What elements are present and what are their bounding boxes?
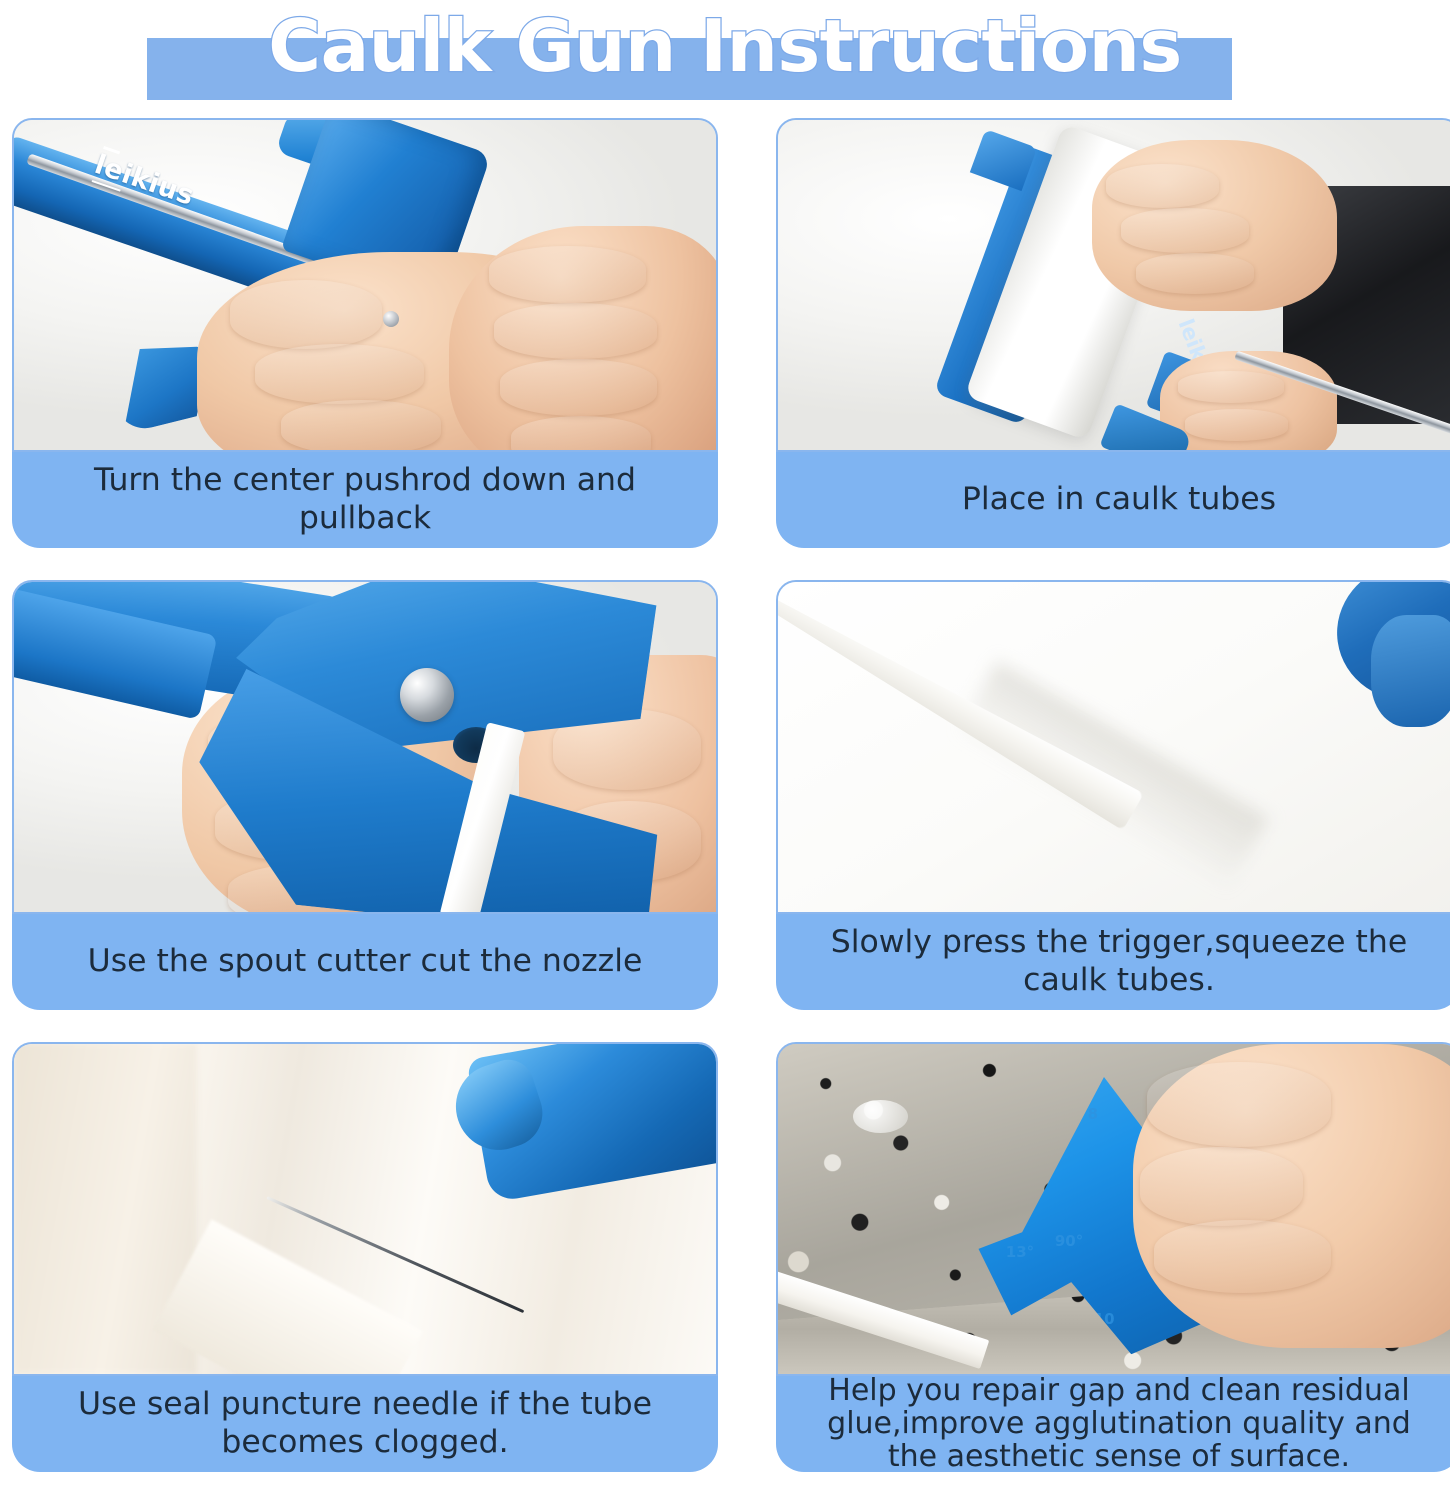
hand-pulling-rod bbox=[449, 226, 718, 452]
step-card-1: leikius Turn the center pushrod down and… bbox=[12, 118, 718, 548]
hand-holding-tube bbox=[1092, 140, 1338, 312]
step-caption-5: Use seal puncture needle if the tube bec… bbox=[12, 1376, 718, 1472]
step-caption-4: Slowly press the trigger,squeeze the cau… bbox=[776, 914, 1450, 1010]
finger bbox=[500, 359, 657, 416]
step-photo-1: leikius bbox=[12, 118, 718, 452]
finger bbox=[1147, 1062, 1331, 1147]
step-card-2: leikius Place in caulk tubes bbox=[776, 118, 1450, 548]
step-caption-2: Place in caulk tubes bbox=[776, 452, 1450, 548]
gun-head-tip-inner bbox=[1371, 615, 1450, 727]
step-photo-4 bbox=[776, 580, 1450, 914]
finger bbox=[1140, 1147, 1303, 1226]
finger bbox=[1136, 253, 1254, 294]
residual-glue bbox=[853, 1100, 908, 1133]
finger bbox=[489, 246, 646, 303]
step-caption-3: Use the spout cutter cut the nozzle bbox=[12, 914, 718, 1010]
finger bbox=[1106, 164, 1219, 209]
page-header: Caulk Gun Instructions bbox=[0, 0, 1450, 118]
finger bbox=[1154, 1220, 1331, 1293]
finger bbox=[1121, 208, 1249, 253]
tool-marking-13: 13° bbox=[1006, 1243, 1034, 1261]
step-card-3: Use the spout cutter cut the nozzle bbox=[12, 580, 718, 1010]
step-caption-1: Turn the center pushrod down and pullbac… bbox=[12, 452, 718, 548]
finger bbox=[230, 280, 382, 349]
hand-holding-tool bbox=[1133, 1044, 1450, 1348]
cutter-rivet bbox=[400, 668, 454, 722]
instruction-steps-grid: leikius Turn the center pushrod down and… bbox=[0, 118, 1450, 1472]
finger bbox=[255, 344, 423, 404]
tool-marking-8: 8 bbox=[1088, 1105, 1098, 1123]
finger bbox=[1185, 409, 1288, 440]
step-caption-6: Help you repair gap and clean residual g… bbox=[776, 1376, 1450, 1472]
tool-marking-90: 90° bbox=[1055, 1232, 1083, 1250]
step-card-6: 8 90° R15 R10 13° Help you repair gap an… bbox=[776, 1042, 1450, 1472]
step-card-5: Use seal puncture needle if the tube bec… bbox=[12, 1042, 718, 1472]
step-photo-2: leikius bbox=[776, 118, 1450, 452]
page-title: Caulk Gun Instructions bbox=[0, 0, 1450, 92]
step-photo-3 bbox=[12, 580, 718, 914]
finger bbox=[1178, 371, 1284, 402]
step-card-4: Slowly press the trigger,squeeze the cau… bbox=[776, 580, 1450, 1010]
finger bbox=[281, 400, 441, 452]
gun-rivet bbox=[383, 311, 399, 327]
step-photo-6: 8 90° R15 R10 13° bbox=[776, 1042, 1450, 1376]
step-photo-5 bbox=[12, 1042, 718, 1376]
finger bbox=[494, 303, 657, 360]
finger bbox=[511, 416, 651, 452]
